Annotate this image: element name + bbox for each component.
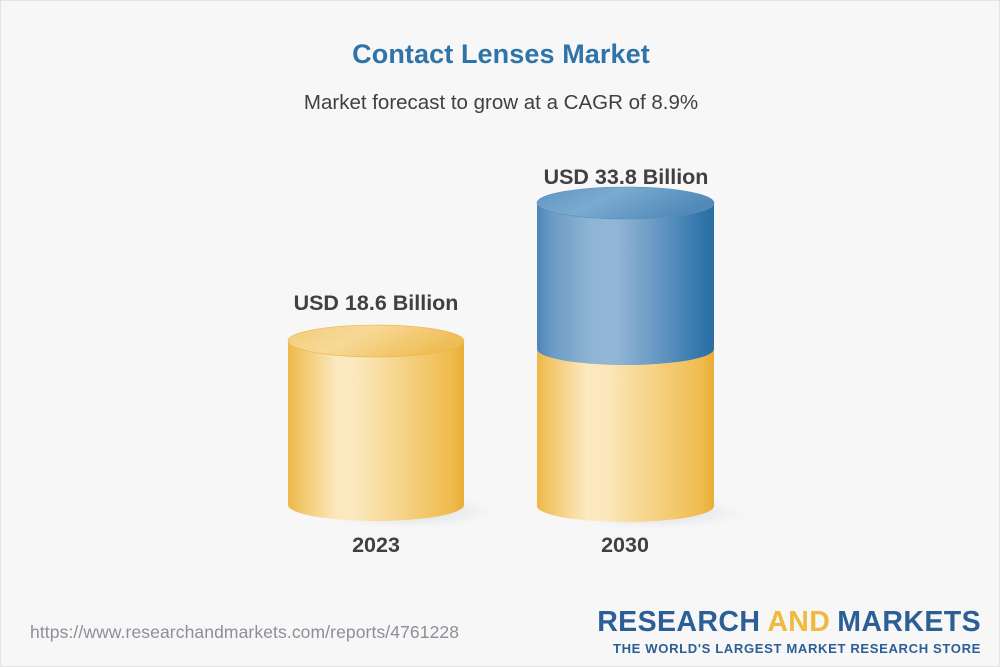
brand-logo[interactable]: RESEARCHANDMARKETS THE WORLD'S LARGEST M… [597, 608, 981, 656]
brand-word-and: AND [767, 606, 830, 638]
bar-2030-value-label: USD 33.8 Billion [426, 165, 826, 190]
bar-2030-top-cap [537, 187, 714, 219]
bar-2030-segment-base [537, 349, 714, 522]
bar-2030-segment-growth [537, 203, 714, 365]
brand-word-research: RESEARCH [597, 606, 760, 638]
bar-2023[interactable] [288, 323, 464, 529]
brand-word-markets: MARKETS [837, 606, 981, 638]
bar-2023-cylinder [288, 323, 518, 538]
brand-wordmark: RESEARCHANDMARKETS [597, 608, 981, 637]
chart-canvas: Contact Lenses Market Market forecast to… [0, 0, 1000, 667]
brand-tagline: THE WORLD'S LARGEST MARKET RESEARCH STOR… [597, 641, 981, 656]
bar-2030-cylinder [537, 191, 772, 539]
footer: https://www.researchandmarkets.com/repor… [1, 600, 1000, 666]
bar-2023-category-label: 2023 [274, 533, 478, 558]
chart-plot-area: USD 18.6 Billion USD 33.8 Billion 2023 2… [1, 1, 1000, 601]
bar-2023-body [288, 341, 464, 521]
bar-2030[interactable] [537, 191, 714, 529]
bar-2023-value-label: USD 18.6 Billion [176, 291, 576, 316]
source-url-link[interactable]: https://www.researchandmarkets.com/repor… [30, 622, 459, 643]
bar-2023-top-cap [288, 325, 464, 357]
bar-2030-category-label: 2030 [523, 533, 727, 558]
